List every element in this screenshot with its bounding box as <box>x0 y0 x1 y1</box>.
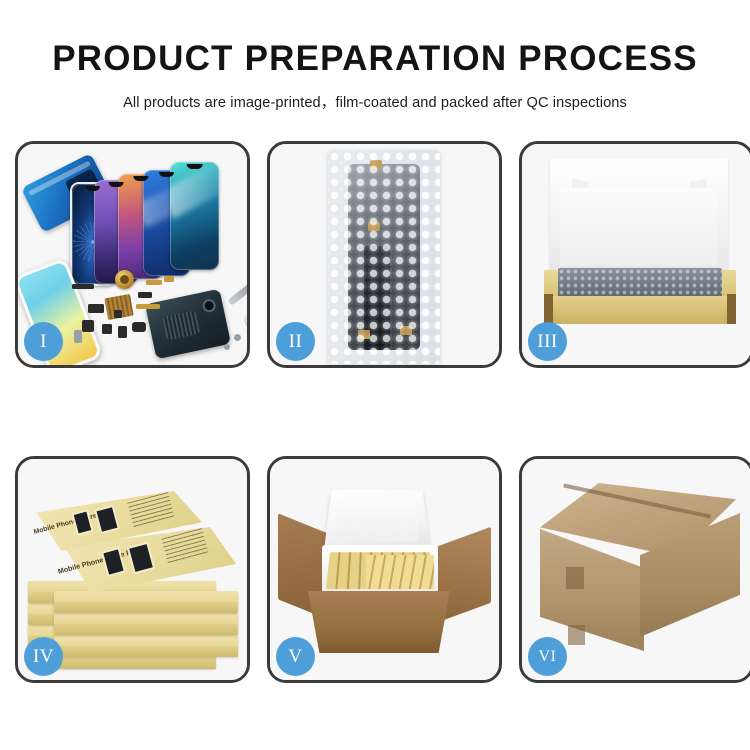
step-panel-1: I <box>15 141 250 368</box>
phone-display-teal <box>170 162 219 270</box>
bubble-wrap-bag <box>328 150 440 364</box>
header: PRODUCT PREPARATION PROCESS All products… <box>0 0 750 112</box>
packed-yellow-boxes-row2 <box>366 555 434 589</box>
product-preparation-infographic: PRODUCT PREPARATION PROCESS All products… <box>0 0 750 750</box>
step-badge-6: VI <box>528 637 567 676</box>
step-badge-1: I <box>24 322 63 361</box>
step-panel-5: V <box>267 456 502 683</box>
wrapped-contents <box>558 268 722 298</box>
step-panel-2: II <box>267 141 502 368</box>
page-title: PRODUCT PREPARATION PROCESS <box>0 41 750 76</box>
tweezers-tool-icon <box>227 279 247 305</box>
carton-left-face <box>540 529 644 651</box>
step-panel-6: VI <box>519 456 750 683</box>
carton-hand-hole-bottom <box>568 625 585 645</box>
home-button-part <box>115 270 134 289</box>
carton-hand-hole-top <box>566 567 584 589</box>
tray-front-face <box>544 296 736 324</box>
foam-lid-inner-panel <box>560 188 718 266</box>
outer-carton-body <box>308 591 450 653</box>
step-panel-3: III <box>519 141 750 368</box>
step-badge-4: IV <box>24 637 63 676</box>
phone-back-housing <box>145 289 231 360</box>
foam-box-lid <box>324 490 430 552</box>
step-badge-5: V <box>276 637 315 676</box>
step-badge-2: II <box>276 322 315 361</box>
page-subtitle: All products are image-printed，film-coat… <box>0 91 750 112</box>
process-step-grid: I II <box>15 141 750 683</box>
step-badge-3: III <box>528 322 567 361</box>
tool-tip-part <box>244 312 247 328</box>
step-panel-4: Mobile Phone Spare Parts Mobile Phone Sp… <box>15 456 250 683</box>
